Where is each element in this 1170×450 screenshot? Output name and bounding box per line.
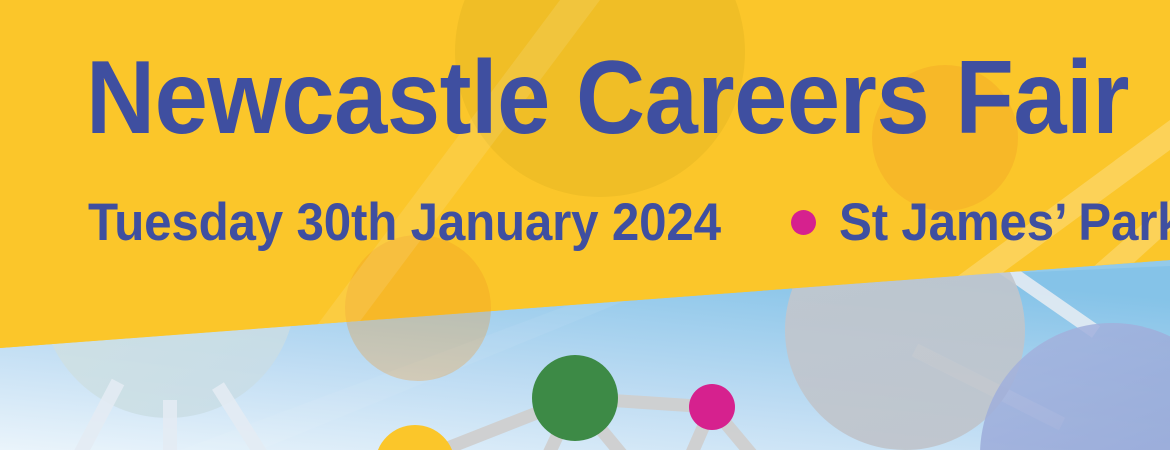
node-orange-fair [872, 65, 1018, 211]
banner-background-graphic [0, 0, 1170, 450]
careers-fair-banner: Newcastle Careers Fair Tuesday 30th Janu… [0, 0, 1170, 450]
node-green [532, 355, 618, 441]
node-pink [689, 384, 735, 430]
